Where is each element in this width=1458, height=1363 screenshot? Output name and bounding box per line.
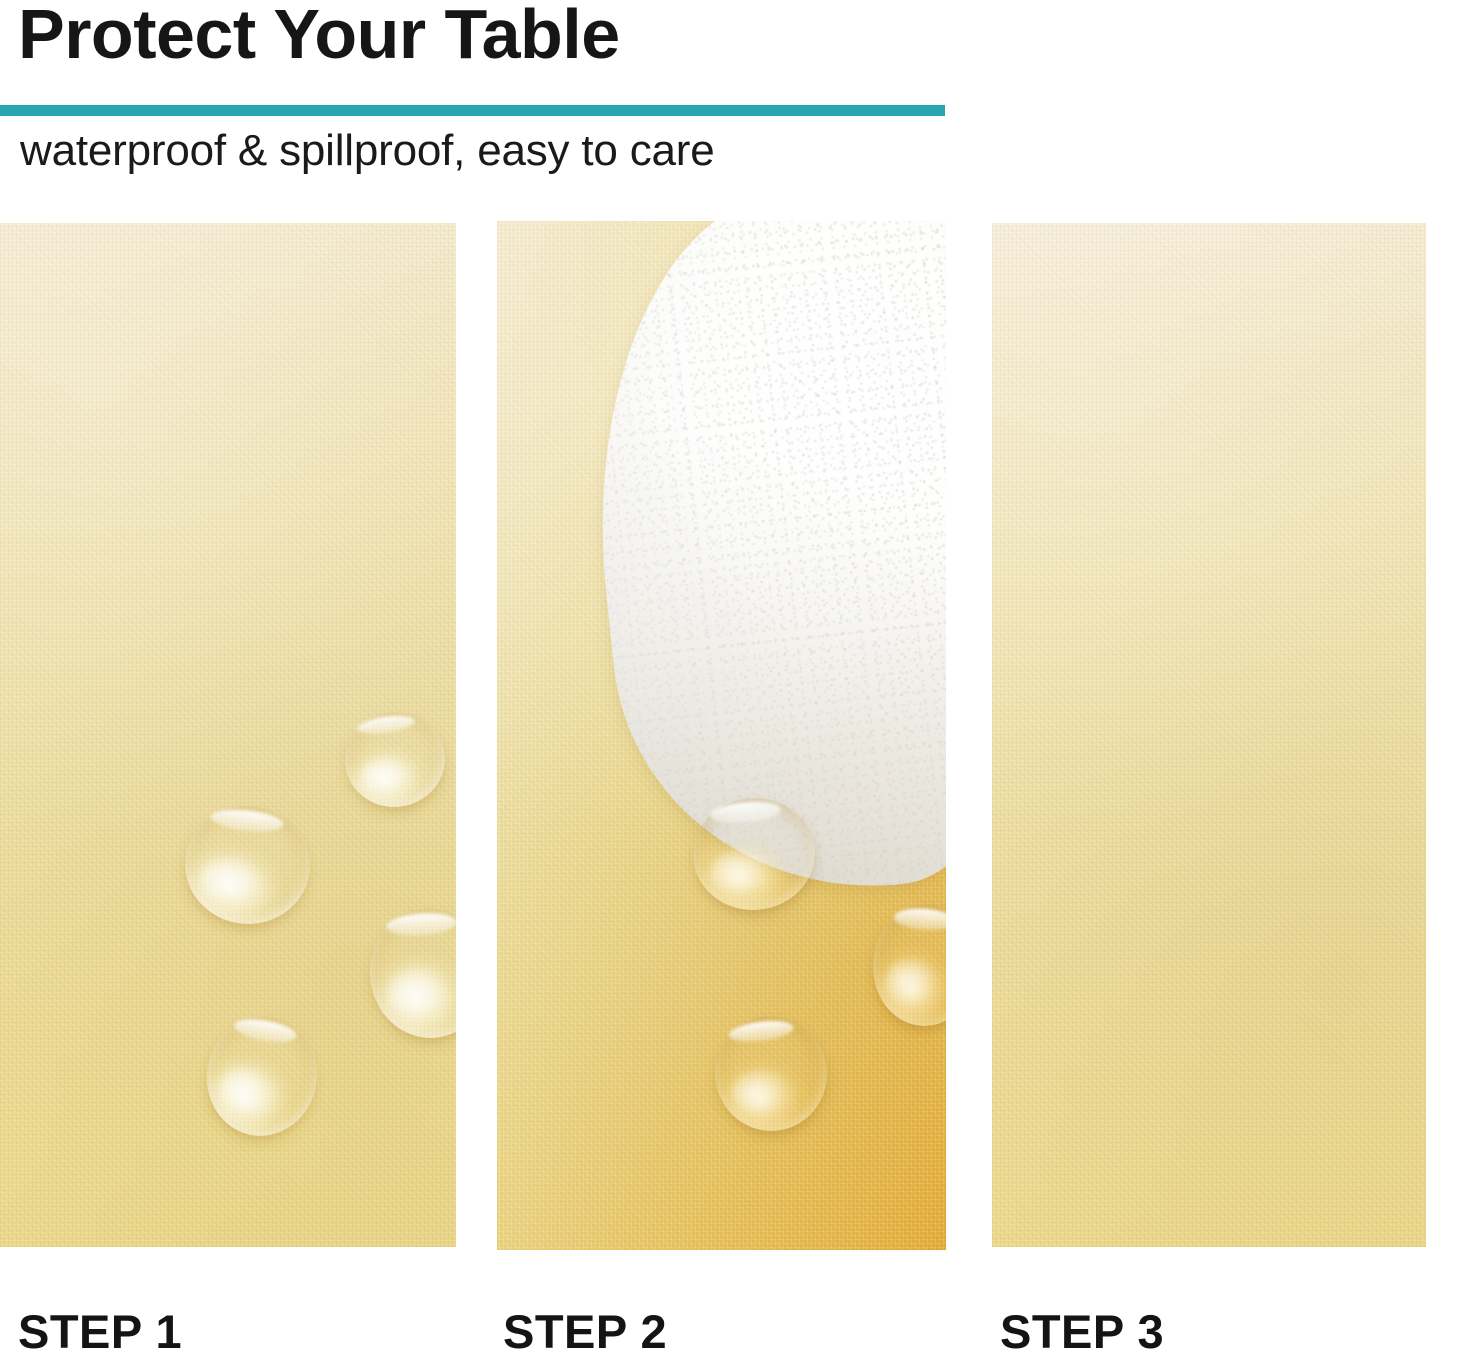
- step-3-image-panel: [992, 223, 1426, 1247]
- page-title: Protect Your Table: [18, 0, 620, 75]
- step-2-label: STEP 2: [503, 1304, 667, 1359]
- step-3-label: STEP 3: [1000, 1304, 1164, 1359]
- header: Protect Your Table waterproof & spillpro…: [0, 0, 1458, 200]
- step-2-image-panel: [497, 221, 946, 1250]
- title-divider: [0, 105, 945, 116]
- page-subtitle: waterproof & spillproof, easy to care: [20, 126, 715, 176]
- step-1-label: STEP 1: [18, 1304, 182, 1359]
- step-1-image-panel: [0, 223, 456, 1247]
- fabric-surface: [992, 223, 1426, 1247]
